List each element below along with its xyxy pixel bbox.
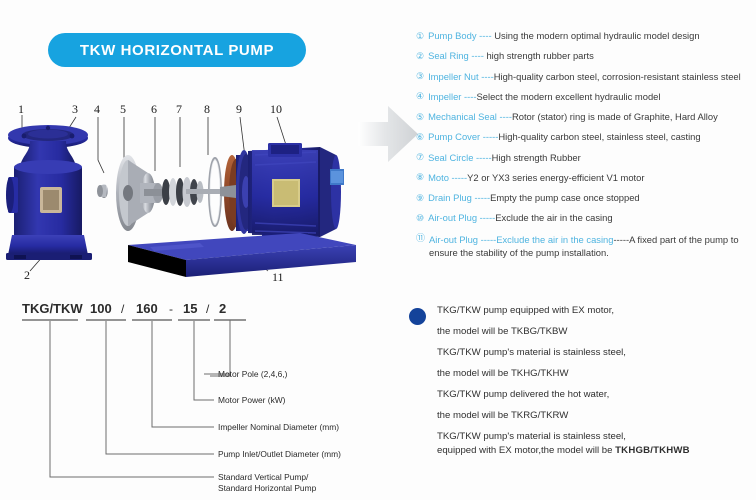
impeller-nut-part (97, 184, 108, 198)
motor-part (186, 143, 344, 241)
code-segment-impeller: 160 (136, 301, 158, 316)
svg-text:8: 8 (204, 102, 210, 116)
list-item: ③ Impeller Nut ----High-quality carbon s… (416, 71, 756, 83)
part-name: Drain Plug (428, 192, 472, 203)
svg-text:9: 9 (236, 102, 242, 116)
part-number: ④ (416, 91, 424, 103)
part-description-cyan: Exclude the air in the casing (496, 234, 613, 245)
part-description: High-quality carbon steel, corrosion-res… (494, 71, 741, 82)
list-item: ⑨ Drain Plug -----Empty the pump case on… (416, 192, 756, 204)
label-motor-pole: Motor Pole (2,4,6,) (218, 369, 288, 379)
list-item: ⑧ Moto -----Y2 or YX3 series energy-effi… (416, 172, 756, 184)
variant-line-prefix: equipped with EX motor,the model will be (437, 445, 615, 456)
code-separator-3: / (206, 302, 210, 316)
variant-line: the model will be TKBG/TKBW (437, 326, 756, 338)
svg-text:11: 11 (272, 270, 284, 284)
part-number: ⑦ (416, 152, 424, 164)
part-name: Seal Ring (428, 50, 469, 61)
part-description: High strength Rubber (492, 152, 581, 163)
variant-line: TKG/TKW pump's material is stainless ste… (437, 431, 756, 443)
parts-description-list: ① Pump Body ---- Using the modern optima… (416, 30, 756, 268)
code-separator-2: - (169, 302, 173, 316)
part-name: Moto (428, 172, 449, 183)
svg-text:1: 1 (18, 102, 24, 116)
list-item: ① Pump Body ---- Using the modern optima… (416, 30, 756, 42)
part-description: High-quality carbon steel, stainless ste… (498, 131, 700, 142)
svg-text:4: 4 (94, 102, 100, 116)
part-dash: ----- (477, 212, 495, 223)
part-number: ③ (416, 71, 424, 83)
svg-text:10: 10 (270, 102, 282, 116)
code-segment-pole: 2 (219, 301, 226, 316)
variant-line: the model will be TKRG/TKRW (437, 410, 756, 422)
list-item: ⑩ Air-out Plug -----Exclude the air in t… (416, 212, 756, 224)
variant-line: TKG/TKW pump delivered the hot water, (437, 389, 756, 401)
variant-model-code: TKHGB/TKHWB (615, 445, 690, 456)
label-standard-1: Standard Vertical Pump/ (218, 472, 309, 482)
model-variants-block: TKG/TKW pump equipped with EX motor, the… (409, 305, 756, 466)
part-name: Air-out Plug (428, 212, 477, 223)
part-dash: ---- (469, 50, 487, 61)
part-dash: ---- (479, 71, 494, 82)
label-standard-2: Standard Horizontal Pump (218, 483, 317, 493)
part-description: high strength rubber parts (486, 50, 593, 61)
part-number: ② (416, 50, 424, 62)
part-dash: ----- (472, 192, 490, 203)
model-code-breakdown: TKG/TKW 100 / 160 - 15 / 2 (14, 296, 404, 496)
bullet-dot-icon (409, 308, 426, 325)
code-segment-power: 15 (183, 301, 197, 316)
part-dash: ---- (477, 30, 495, 41)
variant-line: the model will be TKHG/TKHW (437, 368, 756, 380)
part-name: Air-out Plug (429, 234, 478, 245)
list-item: ⑪ Air-out Plug -----Exclude the air in t… (416, 233, 756, 260)
list-item: ⑦ Seal Circle -----High strength Rubber (416, 152, 756, 164)
part-description: Select the modern excellent hydraulic mo… (477, 91, 661, 102)
variant-line: TKG/TKW pump's material is stainless ste… (437, 347, 756, 359)
part-number: ⑥ (416, 131, 424, 143)
part-dash: ----- (480, 131, 498, 142)
variant-line: TKG/TKW pump equipped with EX motor, (437, 305, 756, 317)
part-number: ⑪ (416, 233, 425, 245)
part-dash: ----- (449, 172, 467, 183)
part-name: Impeller Nut (428, 71, 479, 82)
right-arrow-icon (358, 98, 420, 170)
leader-lines-final (50, 321, 230, 477)
code-segment-series: TKG/TKW (22, 301, 83, 316)
list-item: ② Seal Ring ---- high strength rubber pa… (416, 50, 756, 62)
part-number: ① (416, 30, 424, 42)
list-item: ④ Impeller ----Select the modern excelle… (416, 91, 756, 103)
exploded-pump-diagram: 1 3 4 5 6 7 8 9 10 2 11 (0, 95, 400, 290)
part-name: Seal Circle (428, 152, 473, 163)
part-number: ⑤ (416, 111, 424, 123)
part-number: ⑨ (416, 192, 424, 204)
part-dash: ---- (461, 91, 476, 102)
part-description: Y2 or YX3 series energy-efficient V1 mot… (467, 172, 644, 183)
list-item: ⑥ Pump Cover -----High-quality carbon st… (416, 131, 756, 143)
part-name: Pump Cover (428, 131, 480, 142)
code-segment-inlet: 100 (90, 301, 112, 316)
svg-text:5: 5 (120, 102, 126, 116)
product-spec-sheet: TKW HORIZONTAL PUMP (0, 0, 756, 500)
part-name: Impeller (428, 91, 461, 102)
label-motor-power: Motor Power (kW) (218, 395, 286, 405)
pump-body-part (6, 125, 92, 260)
leader-lines (210, 320, 230, 376)
base-plate-part (128, 233, 356, 277)
variant-line-final: equipped with EX motor,the model will be… (437, 445, 756, 457)
part-number: ⑧ (416, 172, 424, 184)
part-dash: ----- (473, 152, 491, 163)
part-description: Exclude the air in the casing (495, 212, 612, 223)
page-title: TKW HORIZONTAL PUMP (80, 42, 274, 59)
svg-text:2: 2 (24, 268, 30, 282)
part-name: Mechanical Seal (428, 111, 497, 122)
part-description: Using the modern optimal hydraulic model… (494, 30, 699, 41)
code-separator-1: / (121, 302, 125, 316)
part-dash: ----- (478, 234, 496, 245)
svg-text:7: 7 (176, 102, 182, 116)
svg-text:3: 3 (72, 102, 78, 116)
part-name: Pump Body (428, 30, 476, 41)
title-banner: TKW HORIZONTAL PUMP (48, 33, 306, 67)
part-dash: ---- (497, 111, 512, 122)
list-item: ⑤ Mechanical Seal ----Rotor (stator) rin… (416, 111, 756, 123)
part-description: Empty the pump case once stopped (490, 192, 640, 203)
label-impeller-dia: Impeller Nominal Diameter (mm) (218, 422, 339, 432)
part-description: Rotor (stator) ring is made of Graphite,… (512, 111, 718, 122)
part-number: ⑩ (416, 212, 424, 224)
label-inlet-dia: Pump Inlet/Outlet Diameter (mm) (218, 449, 341, 459)
label-ticks (204, 374, 214, 477)
svg-text:6: 6 (151, 102, 157, 116)
